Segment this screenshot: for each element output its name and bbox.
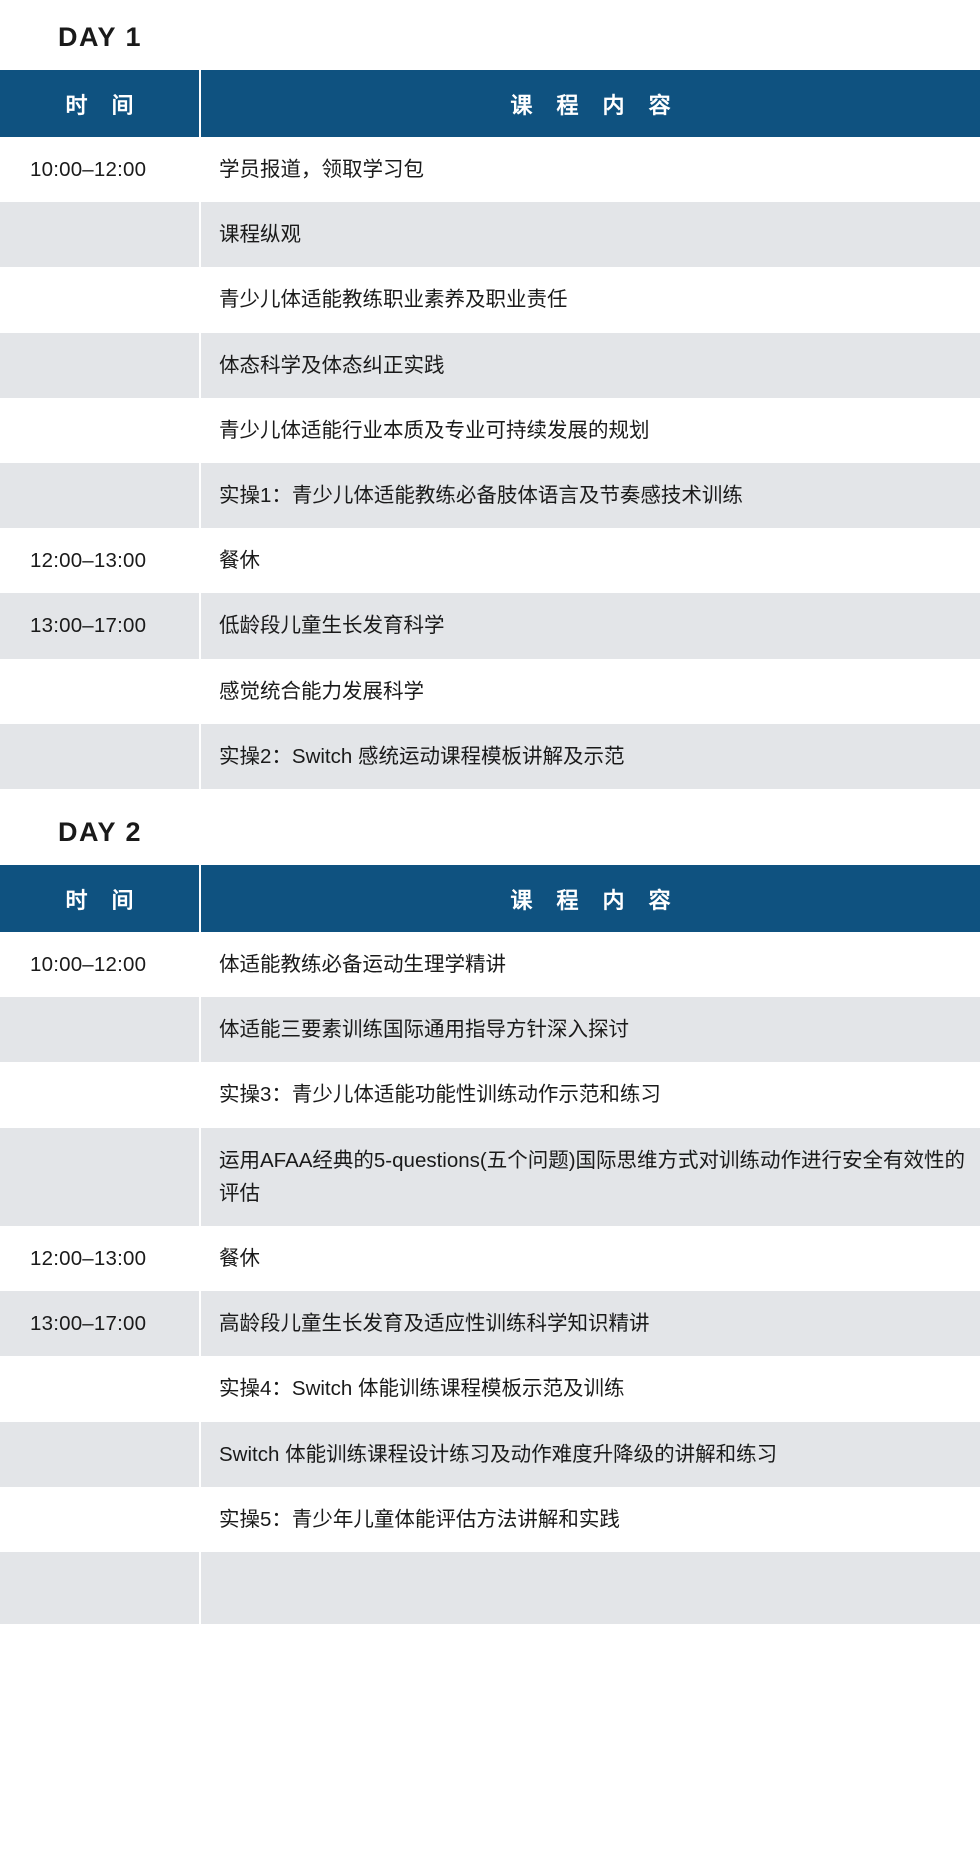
cell-content: 餐休 — [200, 1226, 980, 1291]
table-row: 体态科学及体态纠正实践 — [0, 333, 980, 398]
cell-time — [0, 463, 200, 528]
header-row: 时 间 课 程 内 容 — [0, 865, 980, 932]
cell-time — [0, 333, 200, 398]
day-2-table-body: 10:00–12:00 体适能教练必备运动生理学精讲 体适能三要素训练国际通用指… — [0, 932, 980, 1624]
table-row: 青少儿体适能行业本质及专业可持续发展的规划 — [0, 398, 980, 463]
cell-time: 13:00–17:00 — [0, 593, 200, 658]
column-header-content: 课 程 内 容 — [200, 865, 980, 932]
cell-content: 课程纵观 — [200, 202, 980, 267]
schedule-page: DAY 1 时 间 课 程 内 容 10:00–12:00 学员报道，领取学习包… — [0, 0, 980, 1868]
day-2-title: DAY 2 — [0, 789, 980, 865]
table-row: 12:00–13:00 餐休 — [0, 528, 980, 593]
table-row: 12:00–13:00 餐休 — [0, 1226, 980, 1291]
cell-time — [0, 1062, 200, 1127]
cell-content: 运用AFAA经典的5-questions(五个问题)国际思维方式对训练动作进行安… — [200, 1128, 980, 1226]
table-row: 体适能三要素训练国际通用指导方针深入探讨 — [0, 997, 980, 1062]
cell-content: 实操2：Switch 感统运动课程模板讲解及示范 — [200, 724, 980, 789]
table-row: 课程纵观 — [0, 202, 980, 267]
table-row: 10:00–12:00 学员报道，领取学习包 — [0, 137, 980, 202]
cell-time — [0, 659, 200, 724]
cell-time — [0, 1422, 200, 1487]
cell-content: 实操3：青少儿体适能功能性训练动作示范和练习 — [200, 1062, 980, 1127]
table-row: 实操5：青少年儿童体能评估方法讲解和实践 — [0, 1487, 980, 1552]
day-1-table-body: 10:00–12:00 学员报道，领取学习包 课程纵观 青少儿体适能教练职业素养… — [0, 137, 980, 789]
table-row: 实操2：Switch 感统运动课程模板讲解及示范 — [0, 724, 980, 789]
cell-time — [0, 1487, 200, 1552]
cell-content: 感觉统合能力发展科学 — [200, 659, 980, 724]
cell-content: 低龄段儿童生长发育科学 — [200, 593, 980, 658]
cell-content: 实操1：青少儿体适能教练必备肢体语言及节奏感技术训练 — [200, 463, 980, 528]
day-2-table: 时 间 课 程 内 容 10:00–12:00 体适能教练必备运动生理学精讲 体… — [0, 865, 980, 1624]
column-header-time: 时 间 — [0, 865, 200, 932]
cell-content: 体态科学及体态纠正实践 — [200, 333, 980, 398]
table-row: 感觉统合能力发展科学 — [0, 659, 980, 724]
table-row — [0, 1552, 980, 1624]
cell-content — [200, 1552, 980, 1624]
cell-time — [0, 1128, 200, 1226]
cell-time: 12:00–13:00 — [0, 528, 200, 593]
header-row: 时 间 课 程 内 容 — [0, 70, 980, 137]
cell-time — [0, 1552, 200, 1624]
table-row: Switch 体能训练课程设计练习及动作难度升降级的讲解和练习 — [0, 1422, 980, 1487]
cell-time — [0, 202, 200, 267]
cell-time: 12:00–13:00 — [0, 1226, 200, 1291]
table-row: 实操4：Switch 体能训练课程模板示范及训练 — [0, 1356, 980, 1421]
cell-time: 10:00–12:00 — [0, 932, 200, 997]
cell-content: 体适能三要素训练国际通用指导方针深入探讨 — [200, 997, 980, 1062]
table-row: 实操3：青少儿体适能功能性训练动作示范和练习 — [0, 1062, 980, 1127]
table-row: 13:00–17:00 高龄段儿童生长发育及适应性训练科学知识精讲 — [0, 1291, 980, 1356]
table-row: 13:00–17:00 低龄段儿童生长发育科学 — [0, 593, 980, 658]
cell-content: 实操4：Switch 体能训练课程模板示范及训练 — [200, 1356, 980, 1421]
cell-content: 青少儿体适能行业本质及专业可持续发展的规划 — [200, 398, 980, 463]
cell-content: 餐休 — [200, 528, 980, 593]
table-row: 实操1：青少儿体适能教练必备肢体语言及节奏感技术训练 — [0, 463, 980, 528]
cell-content: Switch 体能训练课程设计练习及动作难度升降级的讲解和练习 — [200, 1422, 980, 1487]
day-2-table-header: 时 间 课 程 内 容 — [0, 865, 980, 932]
table-row: 10:00–12:00 体适能教练必备运动生理学精讲 — [0, 932, 980, 997]
table-row: 运用AFAA经典的5-questions(五个问题)国际思维方式对训练动作进行安… — [0, 1128, 980, 1226]
cell-content: 学员报道，领取学习包 — [200, 137, 980, 202]
cell-time: 13:00–17:00 — [0, 1291, 200, 1356]
cell-content: 实操5：青少年儿童体能评估方法讲解和实践 — [200, 1487, 980, 1552]
cell-time — [0, 267, 200, 332]
day-1-table: 时 间 课 程 内 容 10:00–12:00 学员报道，领取学习包 课程纵观 … — [0, 70, 980, 789]
day-1-table-header: 时 间 课 程 内 容 — [0, 70, 980, 137]
cell-time — [0, 997, 200, 1062]
cell-content: 高龄段儿童生长发育及适应性训练科学知识精讲 — [200, 1291, 980, 1356]
column-header-content: 课 程 内 容 — [200, 70, 980, 137]
cell-time: 10:00–12:00 — [0, 137, 200, 202]
table-row: 青少儿体适能教练职业素养及职业责任 — [0, 267, 980, 332]
cell-time — [0, 724, 200, 789]
cell-time — [0, 398, 200, 463]
cell-time — [0, 1356, 200, 1421]
cell-content: 青少儿体适能教练职业素养及职业责任 — [200, 267, 980, 332]
day-1-title: DAY 1 — [0, 0, 980, 70]
cell-content: 体适能教练必备运动生理学精讲 — [200, 932, 980, 997]
column-header-time: 时 间 — [0, 70, 200, 137]
